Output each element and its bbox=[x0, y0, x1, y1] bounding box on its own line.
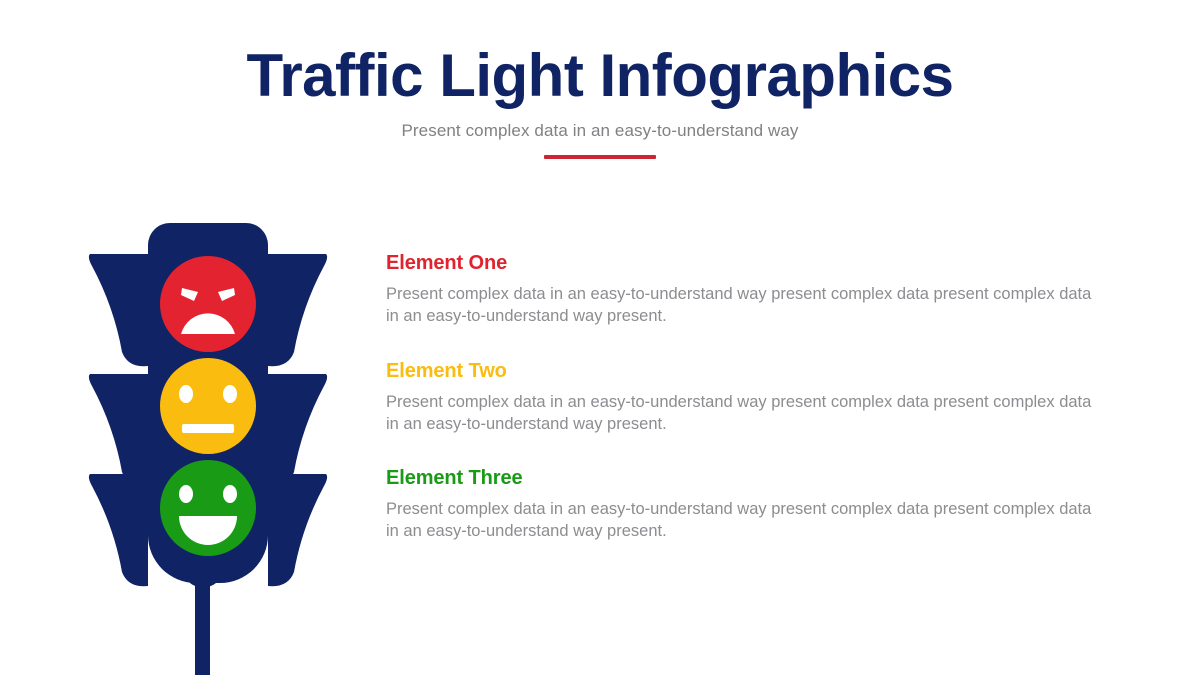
yellow-light[interactable] bbox=[160, 358, 256, 454]
visor-right-top bbox=[268, 254, 327, 366]
element-body-two: Present complex data in an easy-to-under… bbox=[386, 391, 1100, 436]
element-title-one: Element One bbox=[386, 252, 1102, 274]
element-body-one: Present complex data in an easy-to-under… bbox=[386, 283, 1100, 328]
element-title-two: Element Two bbox=[386, 360, 1102, 382]
element-item-two: Element Two Present complex data in an e… bbox=[386, 360, 1102, 436]
slide-header: Traffic Light Infographics Present compl… bbox=[0, 44, 1200, 159]
element-title-three: Element Three bbox=[386, 467, 1102, 489]
green-light[interactable] bbox=[160, 460, 256, 556]
element-item-one: Element One Present complex data in an e… bbox=[386, 252, 1102, 328]
elements-list: Element One Present complex data in an e… bbox=[386, 252, 1102, 543]
red-light[interactable] bbox=[160, 256, 256, 352]
title-accent-bar bbox=[544, 155, 656, 159]
element-item-three: Element Three Present complex data in an… bbox=[386, 467, 1102, 543]
traffic-light-illustration bbox=[78, 222, 368, 675]
visor-right-bottom bbox=[268, 474, 327, 586]
page-subtitle: Present complex data in an easy-to-under… bbox=[0, 121, 1200, 141]
visor-right-middle bbox=[268, 374, 327, 486]
visor-left-top bbox=[89, 254, 148, 366]
visor-left-middle bbox=[89, 374, 148, 486]
visor-left-bottom bbox=[89, 474, 148, 586]
element-body-three: Present complex data in an easy-to-under… bbox=[386, 498, 1100, 543]
page-title: Traffic Light Infographics bbox=[0, 44, 1200, 107]
slide-canvas: Traffic Light Infographics Present compl… bbox=[0, 0, 1200, 675]
